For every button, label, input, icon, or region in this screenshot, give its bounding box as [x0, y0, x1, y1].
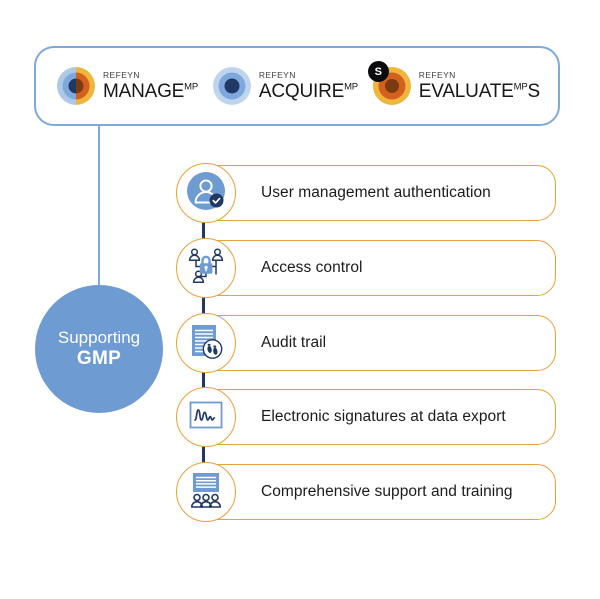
manage-wordmark: REFEYN MANAGEMP	[103, 71, 198, 101]
acquire-concentric-blue-circle-logo-icon	[212, 66, 252, 106]
list-item[interactable]: Electronic signatures at data export	[176, 389, 556, 445]
audit-trail-footprints-icon	[184, 319, 228, 368]
diagram-canvas: REFEYN MANAGEMP REFEYN ACQUIREMP S	[0, 0, 600, 599]
list-item[interactable]: Comprehensive support and training	[176, 464, 556, 520]
feature-card-2[interactable]: Access control	[198, 240, 556, 296]
feature-card-5[interactable]: Comprehensive support and training	[198, 464, 556, 520]
evaluate-wordmark: REFEYN EVALUATEMPS	[419, 71, 540, 101]
manage-product-name: MANAGEMP	[103, 82, 198, 101]
list-item[interactable]: Audit trail	[176, 315, 556, 371]
electronic-signature-icon	[185, 394, 227, 441]
evaluate-concentric-orange-circle-logo-icon: S	[372, 66, 412, 106]
feature-label-3: Audit trail	[261, 334, 326, 352]
feature-label-1: User management authentication	[261, 184, 491, 202]
product-suite-box: REFEYN MANAGEMP REFEYN ACQUIREMP S	[34, 46, 560, 126]
connector-box-to-gmp	[98, 126, 100, 289]
product-acquire[interactable]: REFEYN ACQUIREMP	[212, 66, 358, 106]
manage-split-circle-logo-icon	[56, 66, 96, 106]
supporting-gmp-node: Supporting GMP	[35, 285, 163, 413]
manage-brand: REFEYN	[103, 71, 198, 80]
acquire-wordmark: REFEYN ACQUIREMP	[259, 71, 358, 101]
feature-badge-4	[176, 387, 236, 447]
feature-card-1[interactable]: User management authentication	[198, 165, 556, 221]
evaluate-brand: REFEYN	[419, 71, 540, 80]
product-evaluate[interactable]: S REFEYN EVALUATEMPS	[372, 66, 540, 106]
evaluate-product-name: EVALUATEMPS	[419, 82, 540, 101]
gmp-line-2: GMP	[77, 348, 121, 370]
training-presentation-icon	[184, 468, 228, 517]
feature-label-4: Electronic signatures at data export	[261, 408, 506, 426]
evaluate-s-badge: S	[368, 61, 389, 82]
user-check-icon	[184, 169, 228, 218]
feature-label-2: Access control	[261, 259, 363, 277]
access-control-lock-icon	[183, 243, 229, 294]
feature-label-5: Comprehensive support and training	[261, 483, 513, 501]
list-item[interactable]: User management authentication	[176, 165, 556, 221]
product-manage[interactable]: REFEYN MANAGEMP	[56, 66, 198, 106]
feature-badge-2	[176, 238, 236, 298]
acquire-brand: REFEYN	[259, 71, 358, 80]
gmp-line-1: Supporting	[58, 328, 140, 348]
feature-badge-1	[176, 163, 236, 223]
feature-card-3[interactable]: Audit trail	[198, 315, 556, 371]
feature-badge-5	[176, 462, 236, 522]
feature-card-4[interactable]: Electronic signatures at data export	[198, 389, 556, 445]
list-item[interactable]: Access control	[176, 240, 556, 296]
acquire-product-name: ACQUIREMP	[259, 82, 358, 101]
feature-badge-3	[176, 313, 236, 373]
